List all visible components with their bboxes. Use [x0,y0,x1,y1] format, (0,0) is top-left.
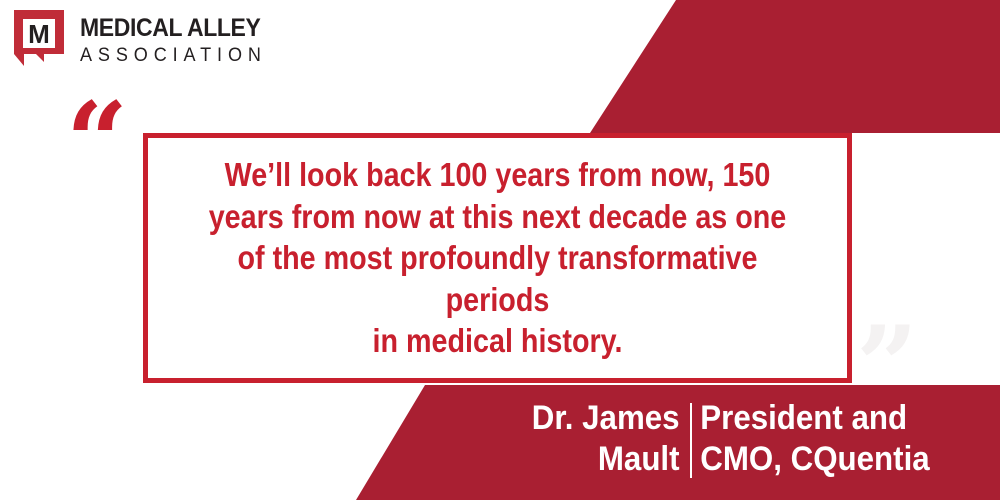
attribution: Dr. James Mault President and CMO, CQuen… [430,398,950,481]
attribution-role: President and CMO, CQuentia [692,398,930,481]
attribution-name: Dr. James Mault [532,398,690,481]
quote-text: We’ll look back 100 years from now, 150 … [193,154,801,362]
quote-box: We’ll look back 100 years from now, 150 … [143,133,852,383]
opening-quote-icon: “ [66,88,130,196]
brand-wordmark: MEDICAL ALLEY ASSOCIATION [80,16,277,65]
brand-logo: M MEDICAL ALLEY ASSOCIATION [14,10,277,72]
brand-name-line2: ASSOCIATION [80,46,267,65]
speech-bubble-m-icon: M [14,10,64,72]
svg-text:M: M [28,19,50,49]
quote-card: M MEDICAL ALLEY ASSOCIATION “ We’ll look… [0,0,1000,500]
brand-name-line1: MEDICAL ALLEY [80,16,261,41]
